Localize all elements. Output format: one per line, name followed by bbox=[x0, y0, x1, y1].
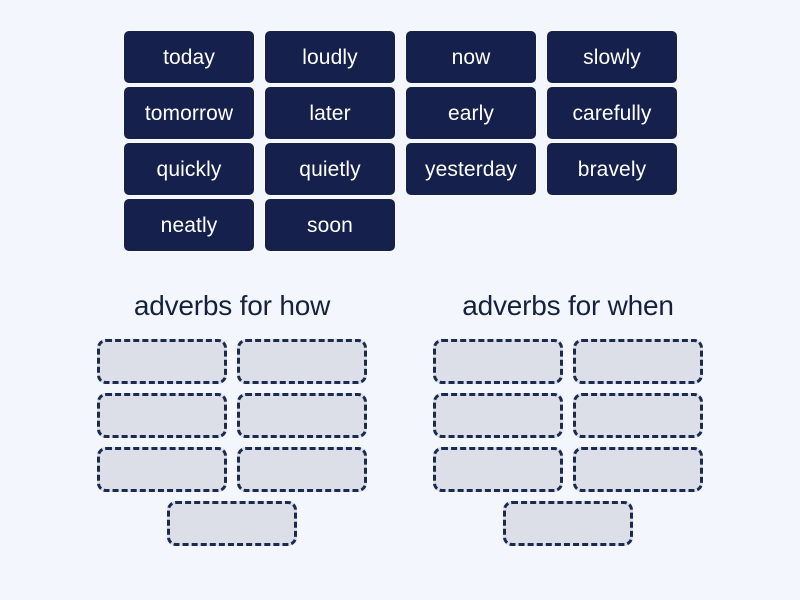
dropzone-slot[interactable] bbox=[573, 393, 703, 438]
word-tile[interactable]: loudly bbox=[265, 31, 395, 83]
category-columns: adverbs for how adverbs for when bbox=[0, 290, 800, 546]
word-tile[interactable]: soon bbox=[265, 199, 395, 251]
dropzone-slot[interactable] bbox=[167, 501, 297, 546]
dropzone-slot[interactable] bbox=[433, 339, 563, 384]
word-bank: today loudly now slowly tomorrow later e… bbox=[124, 31, 680, 251]
word-tile[interactable]: yesterday bbox=[406, 143, 536, 195]
word-tile[interactable]: slowly bbox=[547, 31, 677, 83]
dropzone-slot[interactable] bbox=[433, 447, 563, 492]
dropzone-slot[interactable] bbox=[433, 393, 563, 438]
word-tile[interactable]: quickly bbox=[124, 143, 254, 195]
word-tile[interactable]: later bbox=[265, 87, 395, 139]
category-title: adverbs for when bbox=[462, 290, 674, 322]
dropzone-slot[interactable] bbox=[503, 501, 633, 546]
word-tile[interactable]: bravely bbox=[547, 143, 677, 195]
dropzone-slot[interactable] bbox=[573, 339, 703, 384]
word-tile[interactable]: tomorrow bbox=[124, 87, 254, 139]
word-tile[interactable]: now bbox=[406, 31, 536, 83]
dropzone-slot[interactable] bbox=[97, 447, 227, 492]
word-tile[interactable]: quietly bbox=[265, 143, 395, 195]
word-tile[interactable]: neatly bbox=[124, 199, 254, 251]
dropzone-last-row bbox=[92, 501, 372, 546]
word-tile[interactable]: early bbox=[406, 87, 536, 139]
word-tile[interactable]: carefully bbox=[547, 87, 677, 139]
dropzone-last-row bbox=[428, 501, 708, 546]
dropzone-slot[interactable] bbox=[237, 339, 367, 384]
category-group-when: adverbs for when bbox=[423, 290, 713, 546]
dropzone-slot[interactable] bbox=[573, 447, 703, 492]
dropzone-slot[interactable] bbox=[97, 393, 227, 438]
dropzone-grid bbox=[92, 339, 372, 492]
dropzone-slot[interactable] bbox=[237, 393, 367, 438]
dropzone-slot[interactable] bbox=[97, 339, 227, 384]
category-group-how: adverbs for how bbox=[87, 290, 377, 546]
dropzone-slot[interactable] bbox=[237, 447, 367, 492]
category-title: adverbs for how bbox=[134, 290, 330, 322]
word-tile[interactable]: today bbox=[124, 31, 254, 83]
dropzone-grid bbox=[428, 339, 708, 492]
